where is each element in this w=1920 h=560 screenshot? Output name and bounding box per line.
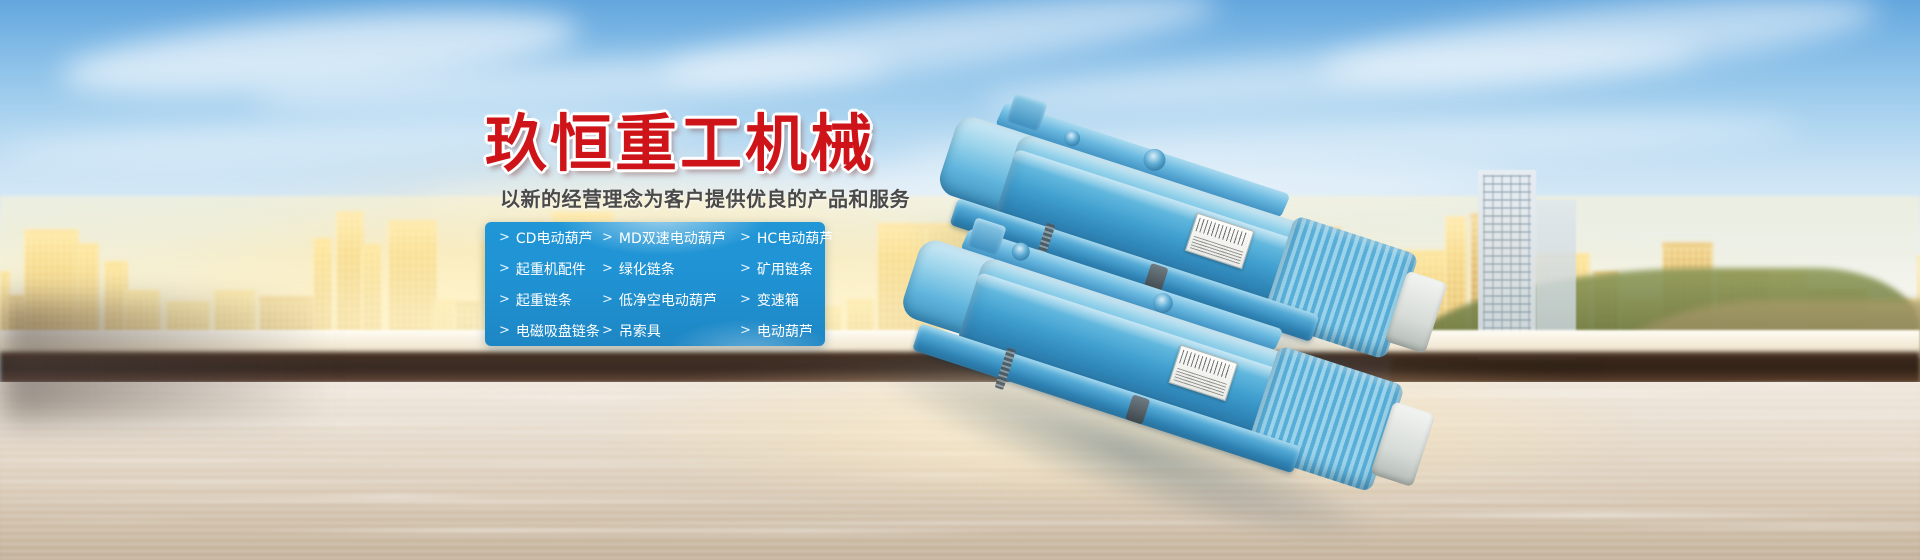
product-link-label: 电磁吸盘链条 bbox=[516, 321, 600, 341]
chevron-right-icon: > bbox=[499, 262, 510, 275]
chevron-right-icon: > bbox=[740, 324, 751, 337]
product-link-label: 起重链条 bbox=[516, 290, 572, 310]
product-link[interactable]: >吊索具 bbox=[602, 315, 740, 346]
product-link[interactable]: >电磁吸盘链条 bbox=[499, 315, 602, 346]
product-link[interactable]: >CD电动葫芦 bbox=[499, 222, 602, 253]
product-link[interactable]: >起重链条 bbox=[499, 284, 602, 315]
product-link[interactable]: >低净空电动葫芦 bbox=[602, 284, 740, 315]
product-link-label: 矿用链条 bbox=[757, 259, 813, 279]
product-link[interactable]: >绿化链条 bbox=[602, 253, 740, 284]
product-link-label: HC电动葫芦 bbox=[757, 228, 833, 248]
chevron-right-icon: > bbox=[602, 293, 613, 306]
banner-content: 玖恒重工机械 以新的经营理念为客户提供优良的产品和服务 >CD电动葫芦>MD双速… bbox=[0, 0, 1920, 560]
chevron-right-icon: > bbox=[602, 231, 613, 244]
banner-subtitle: 以新的经营理念为客户提供优良的产品和服务 bbox=[500, 183, 910, 212]
chevron-right-icon: > bbox=[740, 262, 751, 275]
product-link[interactable]: >变速箱 bbox=[740, 284, 839, 315]
product-link-label: 绿化链条 bbox=[619, 259, 675, 279]
chevron-right-icon: > bbox=[740, 231, 751, 244]
product-links-panel: >CD电动葫芦>MD双速电动葫芦>HC电动葫芦>起重机配件>绿化链条>矿用链条>… bbox=[485, 222, 825, 346]
product-link[interactable]: >HC电动葫芦 bbox=[740, 222, 839, 253]
chevron-right-icon: > bbox=[499, 231, 510, 244]
product-links-grid: >CD电动葫芦>MD双速电动葫芦>HC电动葫芦>起重机配件>绿化链条>矿用链条>… bbox=[485, 222, 825, 346]
product-link-label: 电动葫芦 bbox=[757, 321, 813, 341]
product-link-label: 变速箱 bbox=[757, 290, 799, 310]
chevron-right-icon: > bbox=[499, 293, 510, 306]
chevron-right-icon: > bbox=[740, 293, 751, 306]
chevron-right-icon: > bbox=[602, 262, 613, 275]
chevron-right-icon: > bbox=[602, 324, 613, 337]
chevron-right-icon: > bbox=[499, 324, 510, 337]
product-link-label: 吊索具 bbox=[619, 321, 661, 341]
product-link-label: 低净空电动葫芦 bbox=[619, 290, 717, 310]
product-link[interactable]: >起重机配件 bbox=[499, 253, 602, 284]
product-link[interactable]: >电动葫芦 bbox=[740, 315, 839, 346]
product-link[interactable]: >矿用链条 bbox=[740, 253, 839, 284]
promo-banner: 玖恒重工机械 以新的经营理念为客户提供优良的产品和服务 >CD电动葫芦>MD双速… bbox=[0, 0, 1920, 560]
product-link-label: CD电动葫芦 bbox=[516, 228, 593, 248]
product-link-label: MD双速电动葫芦 bbox=[619, 228, 726, 248]
product-link[interactable]: >MD双速电动葫芦 bbox=[602, 222, 740, 253]
product-link-label: 起重机配件 bbox=[516, 259, 586, 279]
banner-title: 玖恒重工机械 bbox=[485, 113, 875, 175]
